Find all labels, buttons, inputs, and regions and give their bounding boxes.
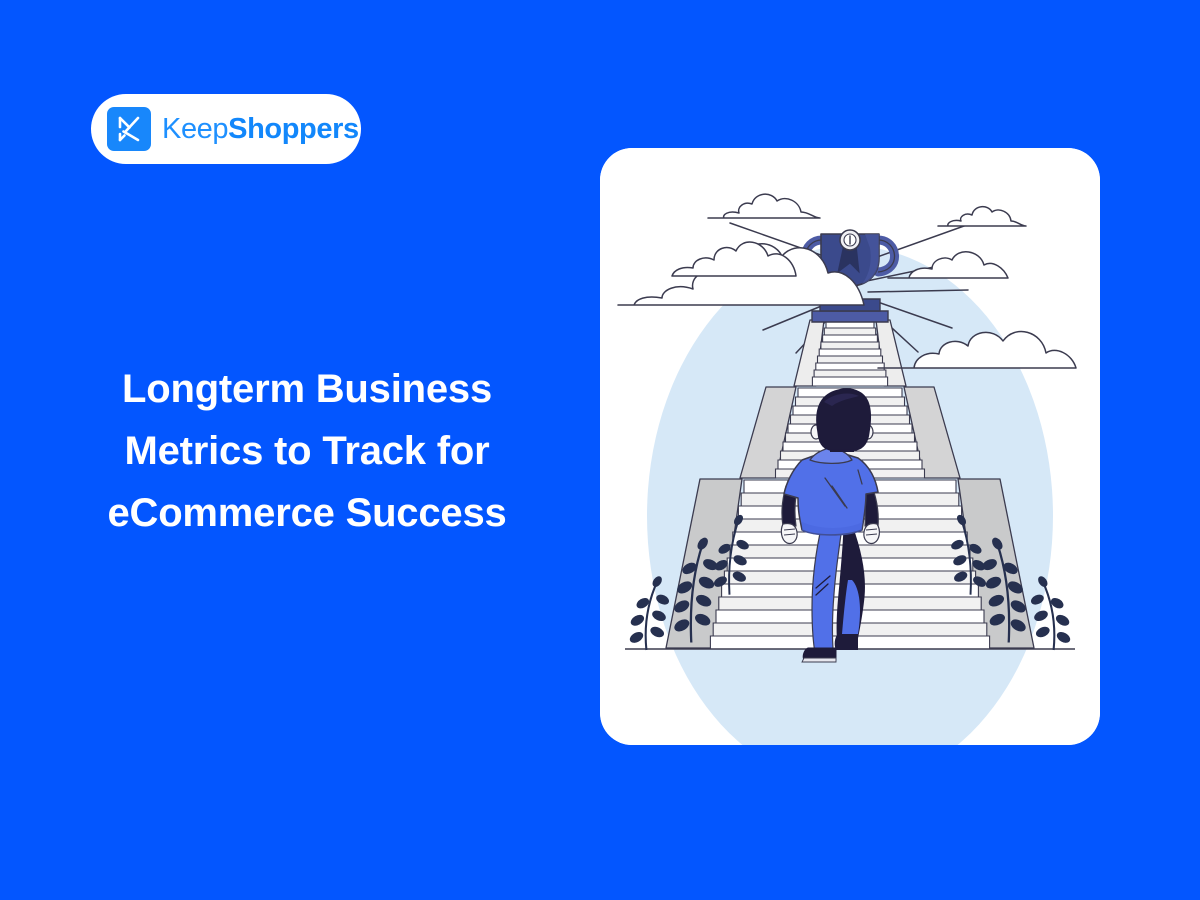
brand-wordmark: KeepShoppers: [162, 115, 359, 144]
man-climbing-stairs-to-trophy-illustration: [600, 148, 1100, 745]
brand-word-keep: Keep: [162, 113, 228, 145]
brand-word-shoppers: Shoppers: [228, 113, 359, 145]
keepshoppers-k-icon: [107, 107, 151, 151]
page-title: Longterm Business Metrics to Track for e…: [72, 358, 542, 544]
staircase-top-tier: [794, 320, 906, 386]
page-canvas: KeepShoppers Longterm Business Metrics t…: [0, 0, 1200, 900]
illustration-card: [600, 148, 1100, 745]
brand-logo[interactable]: KeepShoppers: [91, 94, 361, 164]
